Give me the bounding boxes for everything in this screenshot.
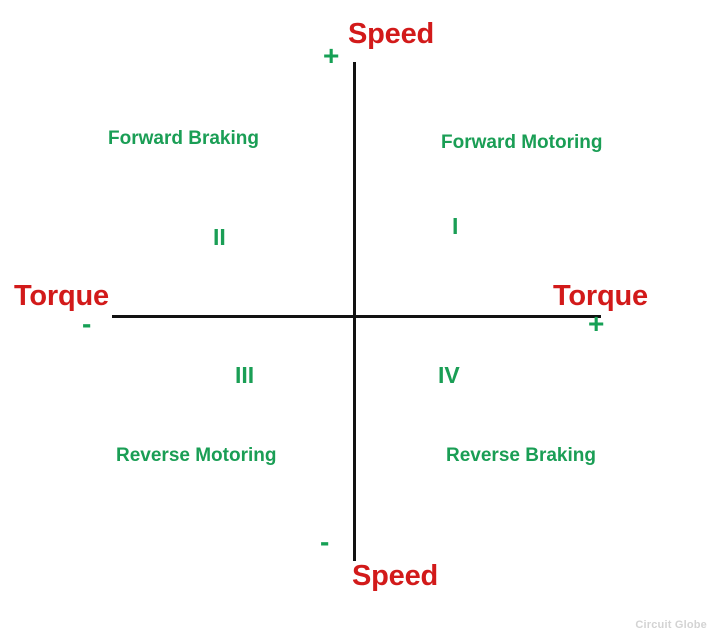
four-quadrant-diagram: Speed Speed Torque Torque + - - + Forwar… (0, 0, 719, 640)
quadrant-2-name: Forward Braking (108, 129, 259, 148)
axis-label-speed-top: Speed (348, 20, 434, 49)
quadrant-4-numeral: IV (438, 364, 460, 387)
quadrant-2-numeral: II (213, 226, 226, 249)
watermark: Circuit Globe (635, 619, 707, 631)
quadrant-4-name: Reverse Braking (446, 446, 596, 465)
sign-torque-positive: + (588, 310, 604, 338)
quadrant-1-numeral: I (452, 215, 458, 238)
sign-torque-negative: - (82, 310, 91, 338)
torque-axis-line (112, 315, 601, 318)
sign-speed-negative: - (320, 528, 329, 556)
axis-label-torque-right: Torque (553, 282, 648, 311)
speed-axis-line (353, 62, 356, 561)
sign-speed-positive: + (323, 42, 339, 70)
axis-label-torque-left: Torque (14, 282, 109, 311)
quadrant-3-numeral: III (235, 364, 254, 387)
quadrant-3-name: Reverse Motoring (116, 446, 276, 465)
quadrant-1-name: Forward Motoring (441, 133, 602, 152)
axis-label-speed-bottom: Speed (352, 562, 438, 591)
